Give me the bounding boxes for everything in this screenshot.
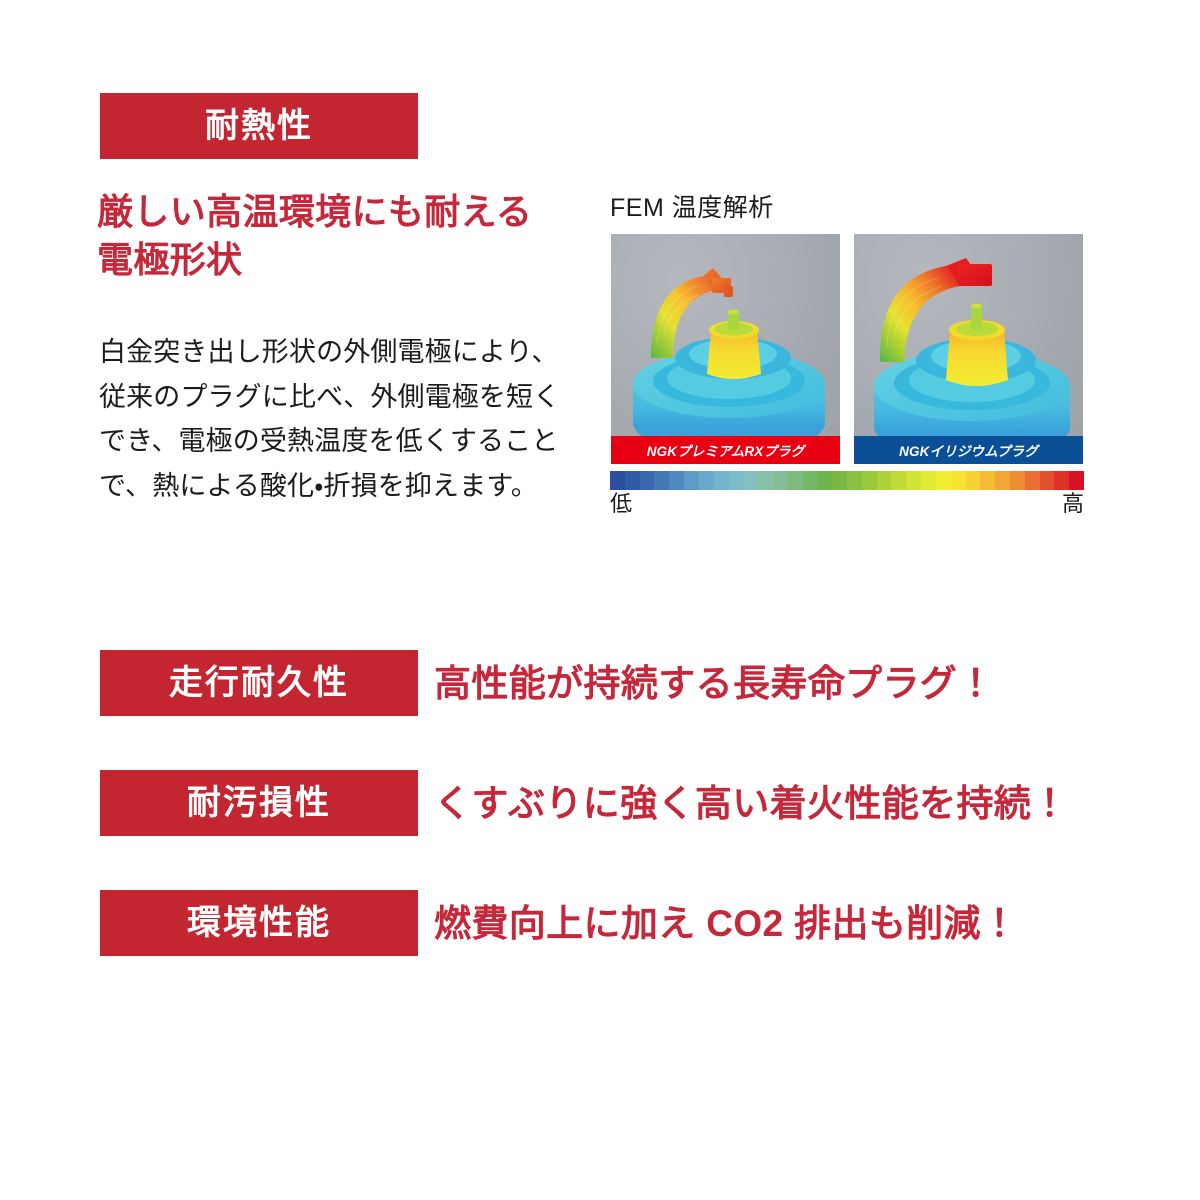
heat-resistance-body-line-4: で、熱による酸化・折損を抑えます。	[99, 464, 599, 509]
feature-badge-environmental-performance: 環境性能	[100, 890, 418, 956]
feature-badge-fouling-resistance: 耐汚損性	[100, 770, 418, 836]
colorbar-segment-30	[1054, 471, 1069, 490]
colorbar-segment-31	[1069, 471, 1084, 490]
heat-resistance-body-line-1: 白金突き出し形状の外側電極により、	[99, 330, 599, 375]
feature-text-environmental-performance: 燃費向上に加え CO2 排出も削減！	[434, 905, 1018, 942]
colorbar-segment-23	[951, 471, 966, 490]
fem-scene-iridium	[854, 234, 1083, 464]
colorbar-segment-15	[832, 471, 847, 490]
heat-resistance-body-line-2: 従来のプラグに比べ、外側電極を短く	[99, 375, 599, 420]
colorbar-segment-8	[729, 471, 744, 490]
feature-badge-label: 耐汚損性	[187, 786, 331, 820]
fem-panel-group: NGKプレミアムRXプラグ	[610, 233, 1084, 465]
heat-resistance-headline: 厳しい高温環境にも耐える 電極形状	[97, 188, 597, 284]
colorbar-segment-27	[1010, 471, 1025, 490]
colorbar-segment-4	[669, 471, 684, 490]
colorbar-segment-22	[936, 471, 951, 490]
colorbar-segment-21	[921, 471, 936, 490]
feature-text-fouling-resistance: くすぶりに強く高い着火性能を持続！	[434, 785, 1069, 822]
colorbar-segment-19	[891, 471, 906, 490]
colorbar-segment-11	[773, 471, 788, 490]
fem-scene-premium-rx	[611, 234, 840, 464]
fem-analysis-figure: FEM 温度解析	[610, 196, 1084, 516]
feature-badge-label: 走行耐久性	[169, 666, 349, 700]
colorbar-segment-18	[877, 471, 892, 490]
colorbar-segment-26	[995, 471, 1010, 490]
feature-badge-driving-durability: 走行耐久性	[100, 650, 418, 716]
colorbar-segment-3	[654, 471, 669, 490]
feature-row-environmental-performance: 環境性能 燃費向上に加え CO2 排出も削減！	[100, 890, 1060, 956]
fem-scale-high-label: 高	[1062, 492, 1084, 516]
colorbar-segment-9	[743, 471, 758, 490]
colorbar-segment-2	[640, 471, 655, 490]
heat-resistance-body-line-3: でき、電極の受熱温度を低くすること	[99, 419, 599, 464]
heat-resistance-badge-label: 耐熱性	[205, 109, 313, 143]
colorbar-segment-1	[625, 471, 640, 490]
heat-resistance-headline-line-1: 厳しい高温環境にも耐える	[97, 188, 597, 236]
colorbar-segment-14	[817, 471, 832, 490]
colorbar-segment-12	[788, 471, 803, 490]
feature-text-driving-durability: 高性能が持続する長寿命プラグ！	[434, 665, 995, 702]
spark-plug-thermal-render-iridium	[854, 234, 1084, 465]
heat-resistance-headline-line-2: 電極形状	[97, 236, 597, 284]
feature-row-fouling-resistance: 耐汚損性 くすぶりに強く高い着火性能を持続！	[100, 770, 1060, 836]
colorbar-segment-5	[684, 471, 699, 490]
fem-temperature-colorbar	[610, 471, 1084, 490]
colorbar-segment-28	[1025, 471, 1040, 490]
colorbar-segment-16	[847, 471, 862, 490]
colorbar-segment-6	[699, 471, 714, 490]
colorbar-segment-20	[906, 471, 921, 490]
heat-resistance-body-text: 白金突き出し形状の外側電極により、 従来のプラグに比べ、外側電極を短く でき、電…	[99, 330, 599, 508]
colorbar-segment-7	[714, 471, 729, 490]
fem-panel-iridium: NGKイリジウムプラグ	[853, 233, 1084, 465]
colorbar-segment-13	[803, 471, 818, 490]
colorbar-segment-17	[862, 471, 877, 490]
spark-plug-thermal-render-premium-rx	[611, 234, 841, 465]
colorbar-segment-25	[980, 471, 995, 490]
feature-badge-label: 環境性能	[187, 906, 331, 940]
fem-scale-low-label: 低	[610, 492, 632, 516]
colorbar-segment-29	[1040, 471, 1055, 490]
colorbar-segment-10	[758, 471, 773, 490]
fem-analysis-title: FEM 温度解析	[610, 196, 1084, 221]
fem-caption-iridium: NGKイリジウムプラグ	[854, 436, 1083, 464]
colorbar-segment-24	[966, 471, 981, 490]
fem-scale-labels: 低 高	[610, 492, 1084, 516]
colorbar-segment-0	[610, 471, 625, 490]
feature-row-driving-durability: 走行耐久性 高性能が持続する長寿命プラグ！	[100, 650, 1060, 716]
fem-panel-premium-rx: NGKプレミアムRXプラグ	[610, 233, 841, 465]
fem-caption-premium-rx: NGKプレミアムRXプラグ	[611, 436, 840, 464]
heat-resistance-badge: 耐熱性	[100, 93, 418, 159]
